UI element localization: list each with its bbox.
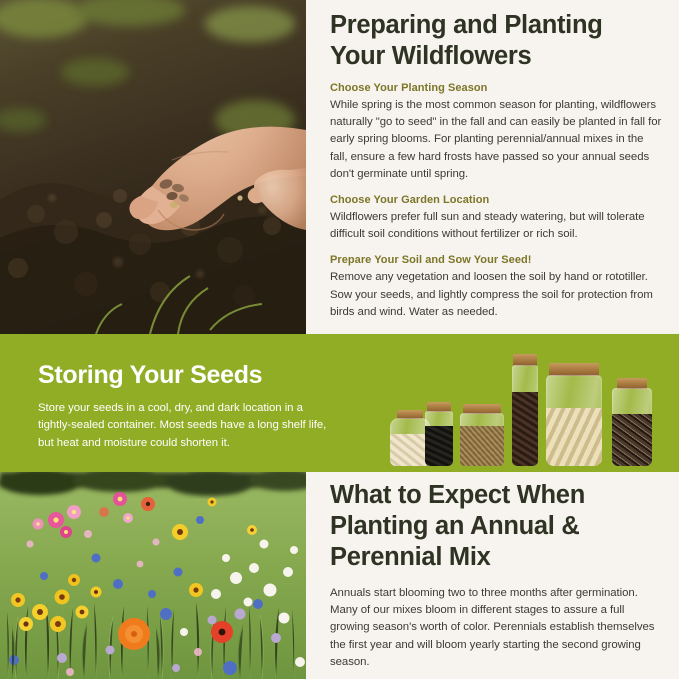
jar-white-beans <box>390 410 430 466</box>
infographic-page: Preparing and Planting Your Wildflowers … <box>0 0 679 679</box>
page-title: Preparing and Planting Your Wildflowers <box>330 10 663 72</box>
jar-black-seeds <box>425 402 453 466</box>
seed-storage-jars-photo <box>384 348 664 466</box>
jar-contents <box>390 434 430 466</box>
what-to-expect-title: What to Expect When Planting an Annual &… <box>330 480 663 573</box>
jar-glass <box>460 413 504 466</box>
what-to-expect-body: Annuals start blooming two to three mont… <box>330 585 663 671</box>
jar-contents <box>546 408 602 466</box>
subheading-planting-season: Choose Your Planting Season <box>330 81 663 96</box>
meadow-photo-illustration <box>0 472 306 679</box>
wildflower-meadow-photo <box>0 472 306 679</box>
jar-glass <box>612 388 652 466</box>
jar-glass <box>425 411 453 466</box>
storing-seeds-body: Store your seeds in a cool, dry, and dar… <box>38 400 338 452</box>
jar-glass <box>390 418 430 466</box>
jar-contents <box>512 392 538 466</box>
block-garden-location: Choose Your Garden Location Wildflowers … <box>330 193 663 243</box>
section-what-to-expect: What to Expect When Planting an Annual &… <box>0 472 679 679</box>
body-planting-season: While spring is the most common season f… <box>330 97 663 183</box>
jar-contents <box>612 414 652 466</box>
section-preparing-planting: Preparing and Planting Your Wildflowers … <box>0 0 679 334</box>
soil-photo-illustration <box>0 0 306 334</box>
body-prepare-soil: Remove any vegetation and loosen the soi… <box>330 269 663 321</box>
jar-glass <box>512 365 538 466</box>
bottom-text-column: What to Expect When Planting an Annual &… <box>330 472 679 679</box>
block-prepare-soil: Prepare Your Soil and Sow Your Seed! Rem… <box>330 253 663 321</box>
body-garden-location: Wildflowers prefer full sun and steady w… <box>330 209 663 243</box>
subheading-garden-location: Choose Your Garden Location <box>330 193 663 208</box>
block-planting-season: Choose Your Planting Season While spring… <box>330 81 663 183</box>
jar-sunflower-seeds <box>612 378 652 466</box>
section-storing-seeds: Storing Your Seeds Store your seeds in a… <box>0 334 679 472</box>
jar-brown-grain <box>460 404 504 466</box>
jar-contents <box>460 426 504 466</box>
top-text-column: Preparing and Planting Your Wildflowers … <box>330 0 679 334</box>
hand-sowing-seeds-photo <box>0 0 306 334</box>
jar-contents <box>425 426 453 466</box>
green-text-column: Storing Your Seeds Store your seeds in a… <box>38 360 338 452</box>
jar-glass <box>546 375 602 466</box>
storing-seeds-title: Storing Your Seeds <box>38 360 338 390</box>
jar-pumpkin-seeds <box>546 364 602 466</box>
jar-dark-brown-seeds <box>512 354 538 466</box>
subheading-prepare-soil: Prepare Your Soil and Sow Your Seed! <box>330 253 663 268</box>
